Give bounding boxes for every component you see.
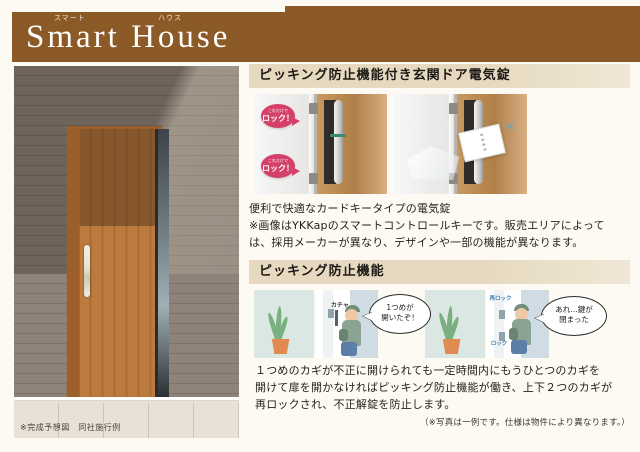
speech-bubble-lock-closed: あれ…鍵が 閉まった (541, 296, 607, 336)
page-title-text: Smart House (26, 21, 230, 54)
lock-photo-right: ✳ (394, 94, 527, 194)
burglar-legs (341, 342, 357, 356)
callout-bubble-upper: これだけで ロック！ (261, 104, 295, 128)
lock-upper-cylinder-2 (449, 103, 458, 114)
illustration-burglar-picking: カチャ (316, 290, 378, 358)
section-1-body: 便利で快適なカードキータイプの電気錠 ※画像はYKKapのスマートコントロールキ… (249, 200, 630, 251)
speech-left-line-1: 1つめが (370, 303, 430, 313)
photo-door-shadow (79, 129, 156, 226)
photo-door-handle (84, 245, 90, 297)
section-1-body-line-2: ※画像はYKKapのスマートコントロールキーです。販売エリアによって (249, 217, 630, 234)
speech-bubble-first-lock-opened: 1つめが 開いたぞ！ (369, 294, 431, 334)
section-heading-electric-lock: ピッキング防止機能付き玄関ドア電気錠 (249, 64, 630, 88)
disclaimer-note: （※写真は一例です。仕様は物件により異なります。） (249, 416, 630, 428)
burglar-legs-2 (511, 340, 527, 354)
section-2-body-line-3: 再ロックされ、不正解錠を防止します。 (255, 396, 630, 413)
page-title: Smart House (26, 12, 230, 62)
section-heading-anti-picking: ピッキング防止機能 (249, 260, 630, 284)
illustration-row: カチャ 再ロック ロック (249, 290, 630, 358)
lockpick-tool (335, 310, 338, 326)
section-1-body-line-1: 便利で快適なカードキータイプの電気錠 (249, 200, 630, 217)
right-column: ピッキング防止機能付き玄関ドア電気錠 これだけで ロック！ これだけで ロッ (249, 64, 630, 88)
entrance-door-photo: ※完成予想図 同社施行例 (14, 66, 239, 438)
lock-lower-cylinder (309, 173, 318, 184)
burglar-bag (339, 329, 348, 341)
burglar-bag-2 (509, 328, 518, 340)
callout-bubble-lower: これだけで ロック！ (261, 154, 295, 178)
section-2-body-line-2: 開けて扉を開かなければピッキング防止機能が働き、上下２つのカギが (255, 379, 630, 396)
callout-lower-small: これだけで (261, 154, 295, 164)
signal-spark-icon: ✳ (504, 120, 520, 136)
section-2-body: １つめのカギが不正に開けられても一定時間内にもうひとつのカギを 開けて扉を開かな… (249, 362, 630, 413)
speech-left-line-2: 開いたぞ！ (370, 313, 430, 323)
callout-upper-small: これだけで (261, 104, 295, 114)
illustration-plant-left (254, 290, 314, 358)
lock-photo-left: これだけで ロック！ これだけで ロック！ (254, 94, 387, 194)
section-1-body-line-3: は、採用メーカーが異なり、デザインや一部の機能が異なります。 (249, 234, 630, 251)
label-relock: 再ロック (489, 294, 511, 302)
illustration-plant-right (425, 290, 485, 358)
lock-photo-row: これだけで ロック！ これだけで ロック！ (249, 94, 630, 194)
sfx-kacha: カチャ (331, 300, 349, 309)
banner-left-cut (0, 6, 12, 62)
speech-right-line-2: 閉まった (542, 315, 606, 325)
section-2-body-line-1: １つめのカギが不正に開けられても一定時間内にもうひとつのカギを (255, 362, 630, 379)
brochure-page: スマート ハウス Smart House ※完成予想図 同社施行例 ピッキング防… (0, 0, 640, 452)
label-lock: ロック (491, 339, 508, 347)
speech-right-line-1: あれ…鍵が (542, 305, 606, 315)
callout-upper-main: ロック！ (261, 114, 295, 123)
callout-lower-main: ロック！ (261, 164, 295, 173)
lock-upper-cylinder (309, 103, 318, 114)
photo-sidelight-glass (158, 129, 169, 397)
illustration-lock-upper (499, 310, 505, 319)
illustration-lock (328, 309, 334, 318)
lock-door-handle (334, 100, 343, 184)
illustration-burglar-relocked: 再ロック ロック (487, 290, 549, 358)
photo-caption: ※完成予想図 同社施行例 (20, 422, 121, 433)
lock-handle-band (330, 134, 346, 137)
card-key-text-lines (479, 134, 486, 152)
